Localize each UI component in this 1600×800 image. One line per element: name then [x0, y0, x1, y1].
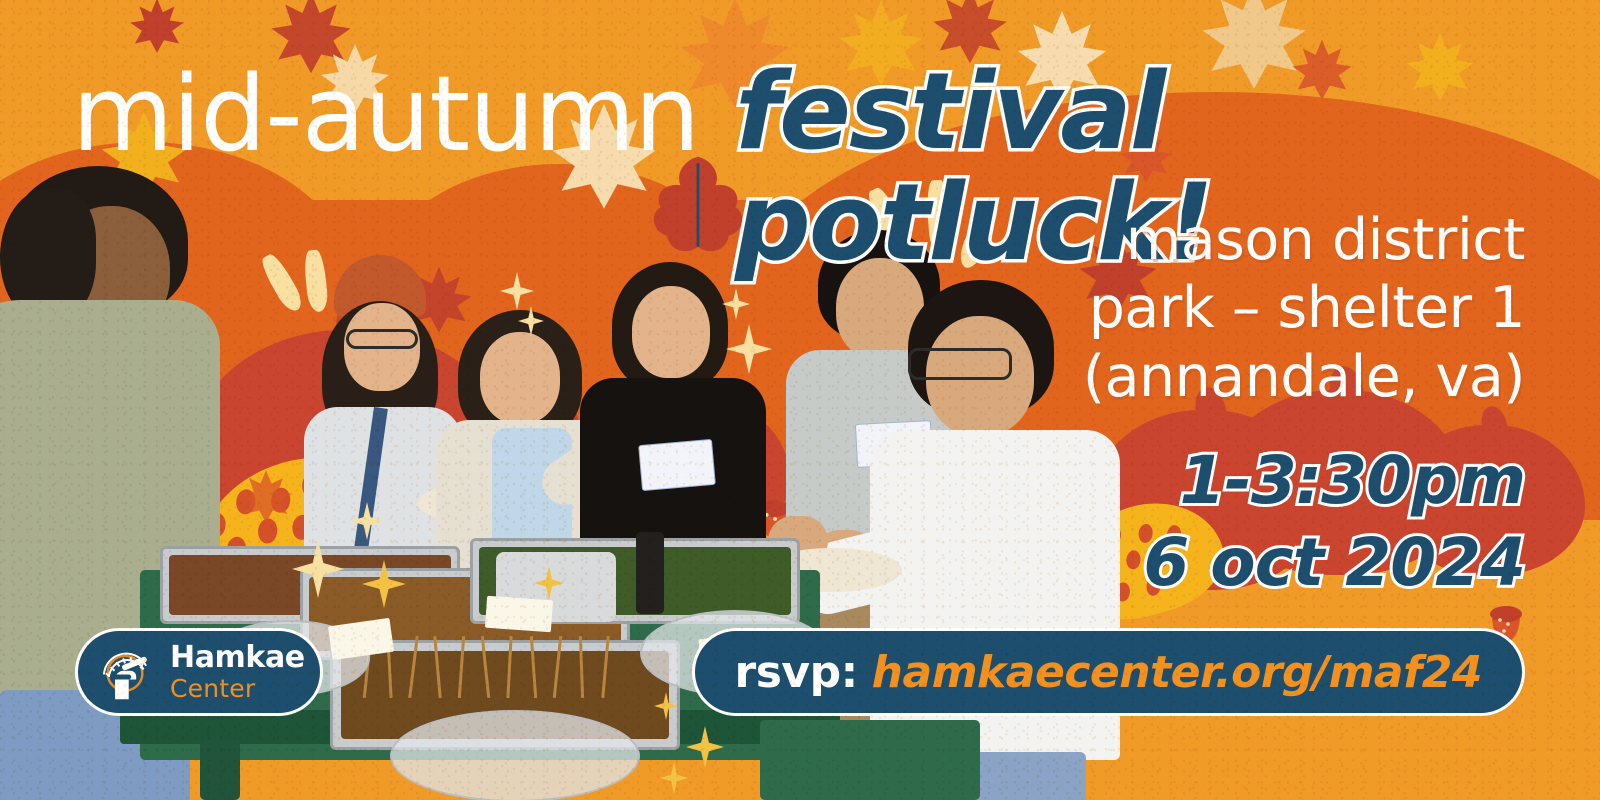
- poster-canvas: mid-autumn festival potluck! mason distr…: [0, 0, 1600, 800]
- paper-texture-overlay: [0, 0, 1600, 800]
